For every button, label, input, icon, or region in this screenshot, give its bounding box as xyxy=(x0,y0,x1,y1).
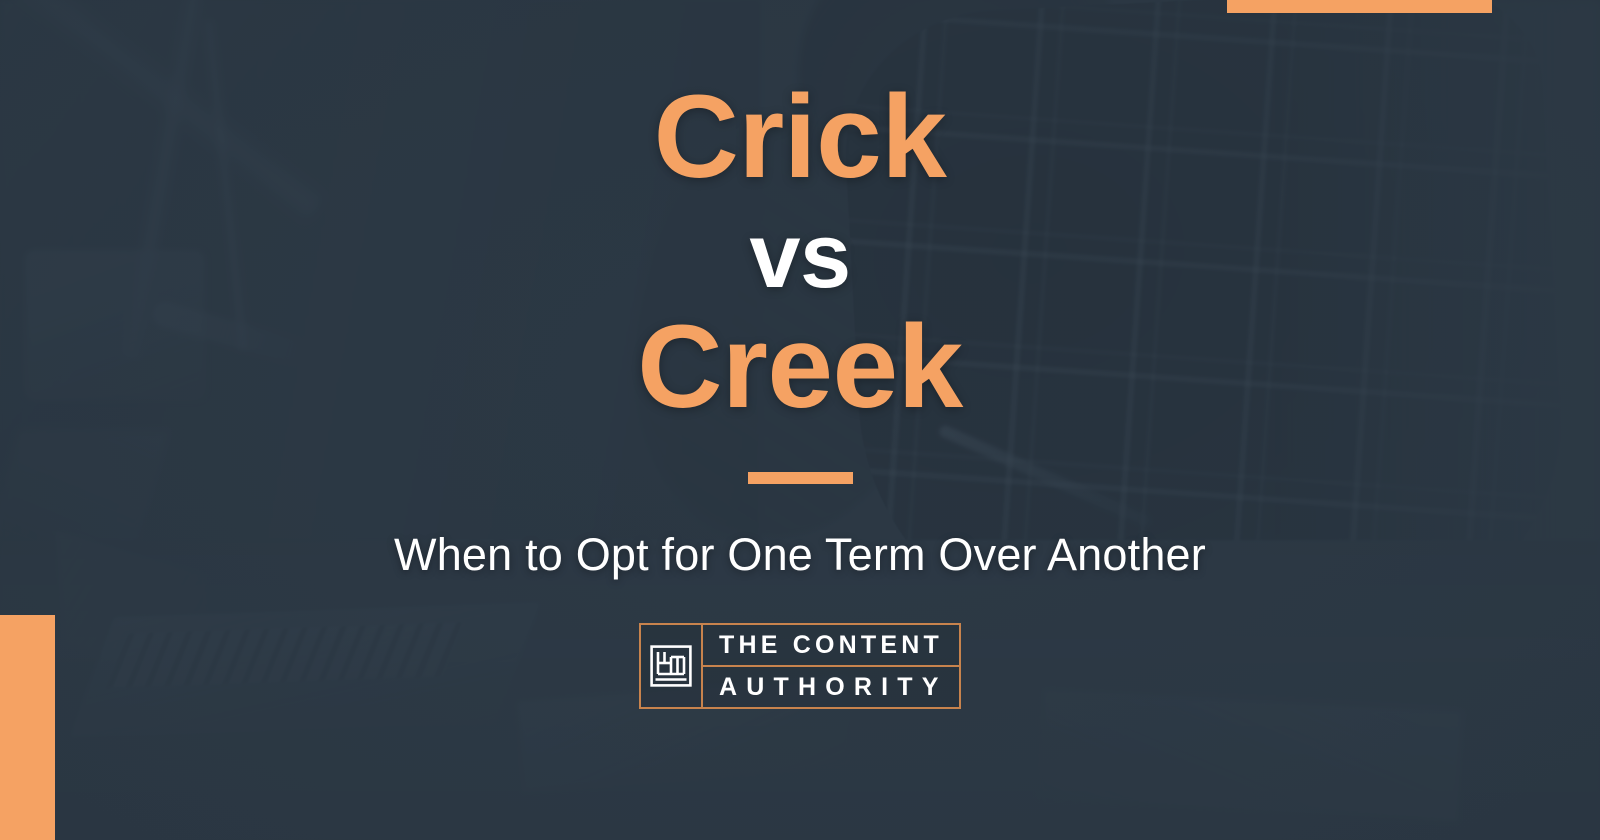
hero-banner: Crick vs Creek When to Opt for One Term … xyxy=(0,0,1600,840)
orange-divider xyxy=(748,472,853,484)
hero-title-line-2: vs xyxy=(749,210,850,302)
brand-logo-line-1: THE CONTENT xyxy=(703,625,959,667)
content-authority-monogram-icon xyxy=(641,625,703,707)
brand-logo[interactable]: THE CONTENT AUTHORITY xyxy=(639,623,961,709)
brand-logo-wordmark: THE CONTENT AUTHORITY xyxy=(703,625,959,707)
hero-title-line-3: Creek xyxy=(637,308,963,426)
hero-content: Crick vs Creek When to Opt for One Term … xyxy=(0,0,1600,840)
hero-title-line-1: Crick xyxy=(654,78,947,196)
brand-logo-line-2: AUTHORITY xyxy=(703,667,959,707)
hero-subtitle: When to Opt for One Term Over Another xyxy=(394,529,1206,581)
